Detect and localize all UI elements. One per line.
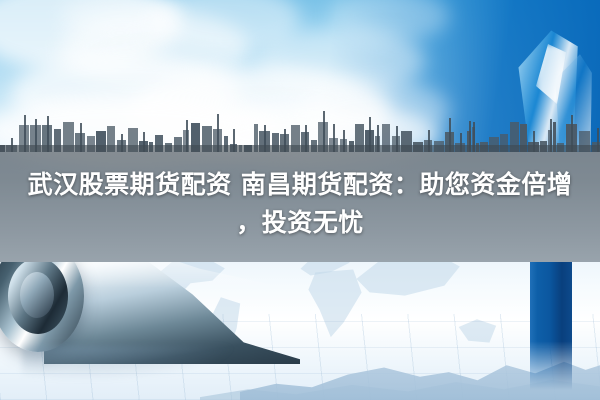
ribbon-reflection: [22, 346, 232, 380]
headline-block: 武汉股票期货配资 南昌期货配资：助您资金倍增 ，投资无忧: [0, 145, 600, 262]
curled-metallic-ribbon: [0, 262, 286, 378]
blue-vertical-bar: [530, 262, 572, 390]
banner-image: 武汉股票期货配资 南昌期货配资：助您资金倍增 ，投资无忧: [0, 0, 600, 400]
world-map-asia: [352, 262, 462, 308]
bottom-graphic-panel: [0, 262, 600, 400]
ribbon-roll-inner: [20, 272, 54, 318]
headline-line-1: 武汉股票期货配资 南昌期货配资：助您资金倍增: [28, 166, 573, 204]
headline-line-2: ，投资无忧: [236, 204, 364, 242]
sky-background: [0, 0, 600, 152]
